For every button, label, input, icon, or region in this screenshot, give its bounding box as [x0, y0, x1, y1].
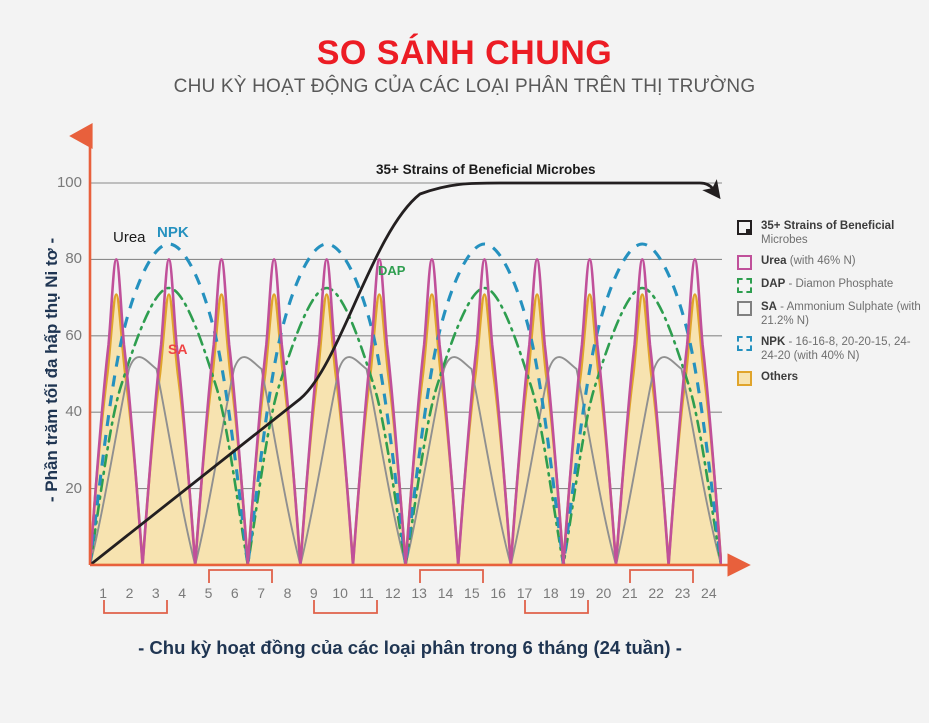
x-tick-20: 20: [593, 585, 615, 601]
y-tick-60: 60: [40, 327, 82, 344]
microbes-swatch-icon: [737, 220, 752, 235]
x-tick-21: 21: [619, 585, 641, 601]
x-tick-8: 8: [277, 585, 299, 601]
x-tick-2: 2: [119, 585, 141, 601]
x-tick-19: 19: [566, 585, 588, 601]
x-tick-10: 10: [329, 585, 351, 601]
legend-label-dap: DAP - Diamon Phosphate: [761, 277, 893, 291]
x-tick-4: 4: [171, 585, 193, 601]
npk-swatch-icon: [737, 336, 752, 351]
legend-item-urea[interactable]: Urea (with 46% N): [737, 254, 927, 270]
annotation-microbes: 35+ Strains of Beneficial Microbes: [376, 162, 595, 177]
x-tick-18: 18: [540, 585, 562, 601]
x-tick-9: 9: [303, 585, 325, 601]
x-tick-12: 12: [382, 585, 404, 601]
x-tick-17: 17: [514, 585, 536, 601]
legend: 35+ Strains of Beneficial Microbes Urea …: [737, 219, 927, 393]
chart-page: SO SÁNH CHUNG CHU KỲ HOẠT ĐỘNG CỦA CÁC L…: [0, 0, 929, 723]
x-tick-13: 13: [408, 585, 430, 601]
dap-swatch-icon: [737, 278, 752, 293]
sa-swatch-icon: [737, 301, 752, 316]
x-tick-22: 22: [645, 585, 667, 601]
legend-label-microbes: 35+ Strains of Beneficial Microbes: [761, 219, 927, 247]
legend-label-urea: Urea (with 46% N): [761, 254, 856, 268]
legend-item-npk[interactable]: NPK - 16-16-8, 20-20-15, 24-24-20 (with …: [737, 335, 927, 363]
x-tick-14: 14: [435, 585, 457, 601]
legend-item-microbes[interactable]: 35+ Strains of Beneficial Microbes: [737, 219, 927, 247]
legend-item-dap[interactable]: DAP - Diamon Phosphate: [737, 277, 927, 293]
x-tick-23: 23: [672, 585, 694, 601]
urea-swatch-icon: [737, 255, 752, 270]
x-tick-5: 5: [198, 585, 220, 601]
others-swatch-icon: [737, 371, 752, 386]
x-tick-11: 11: [356, 585, 378, 601]
y-tick-40: 40: [40, 403, 82, 420]
x-tick-6: 6: [224, 585, 246, 601]
x-tick-24: 24: [698, 585, 720, 601]
legend-item-others[interactable]: Others: [737, 370, 927, 386]
y-tick-80: 80: [40, 250, 82, 267]
y-tick-100: 100: [40, 174, 82, 191]
x-tick-3: 3: [145, 585, 167, 601]
x-tick-1: 1: [92, 585, 114, 601]
x-tick-16: 16: [487, 585, 509, 601]
x-tick-15: 15: [461, 585, 483, 601]
annotation-sa: SA: [168, 341, 187, 357]
annotation-npk: NPK: [157, 224, 189, 241]
legend-label-others: Others: [761, 370, 798, 384]
legend-label-npk: NPK - 16-16-8, 20-20-15, 24-24-20 (with …: [761, 335, 927, 363]
annotation-dap: DAP: [378, 263, 405, 278]
legend-label-sa: SA - Ammonium Sulphate (with 21.2% N): [761, 300, 927, 328]
legend-item-sa[interactable]: SA - Ammonium Sulphate (with 21.2% N): [737, 300, 927, 328]
y-tick-20: 20: [40, 480, 82, 497]
x-tick-7: 7: [250, 585, 272, 601]
annotation-urea: Urea: [113, 229, 146, 246]
